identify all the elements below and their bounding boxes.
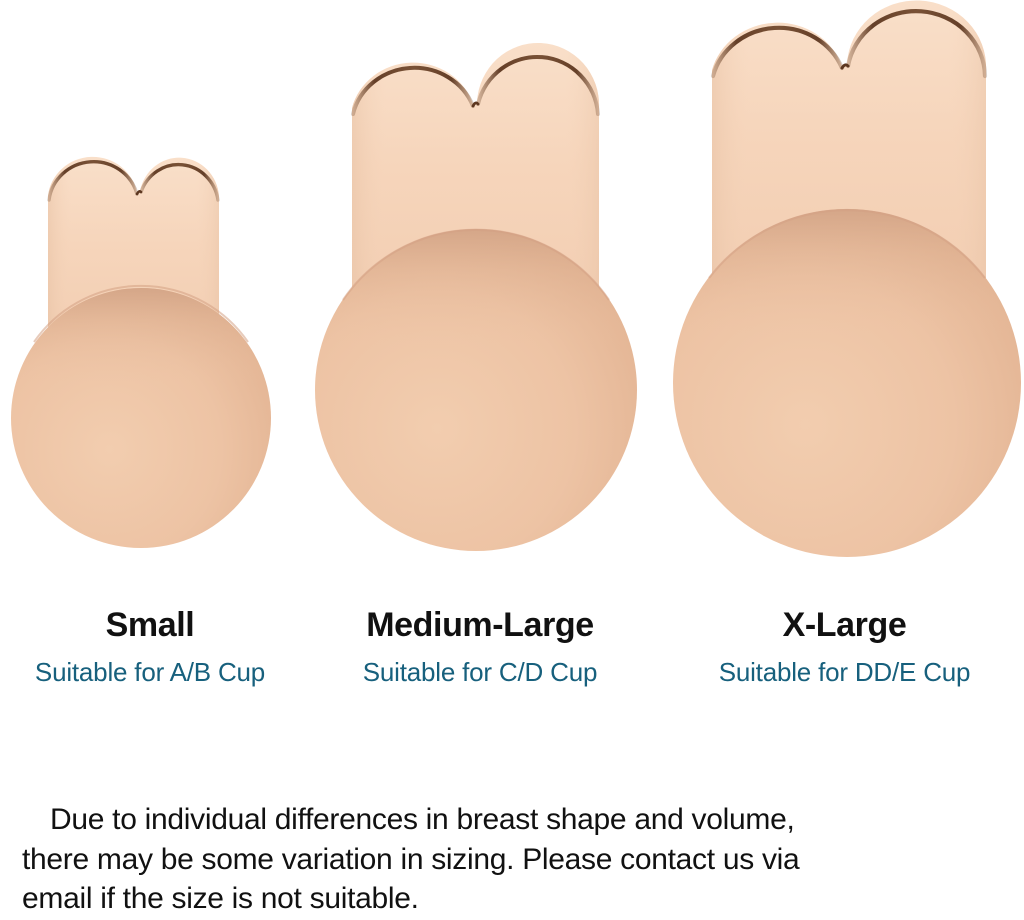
size-label-column-small: Small Suitable for A/B Cup [0, 608, 300, 688]
size-subtitle-medium-large: Suitable for C/D Cup [305, 658, 655, 688]
product-illustrations [0, 0, 1024, 600]
size-name-medium-large: Medium-Large [305, 608, 655, 644]
product-shapes-svg [0, 0, 1024, 600]
disclaimer-text: Due to individual differences in breast … [22, 800, 1002, 919]
disclaimer-line-2: there may be some variation in sizing. P… [22, 840, 1002, 880]
disclaimer-line-1: Due to individual differences in breast … [22, 800, 1002, 840]
size-label-column-x-large: X-Large Suitable for DD/E Cup [665, 608, 1024, 688]
product-small [11, 157, 271, 548]
size-name-x-large: X-Large [665, 608, 1024, 644]
product-x-large [673, 0, 1021, 557]
size-chart-page: Small Suitable for A/B Cup Medium-Large … [0, 0, 1024, 920]
size-subtitle-x-large: Suitable for DD/E Cup [665, 658, 1024, 688]
size-subtitle-small: Suitable for A/B Cup [0, 658, 300, 688]
size-label-column-medium-large: Medium-Large Suitable for C/D Cup [305, 608, 655, 688]
size-name-small: Small [0, 608, 300, 644]
disclaimer-line-3: email if the size is not suitable. [22, 879, 1002, 919]
product-medium-large [315, 43, 637, 551]
